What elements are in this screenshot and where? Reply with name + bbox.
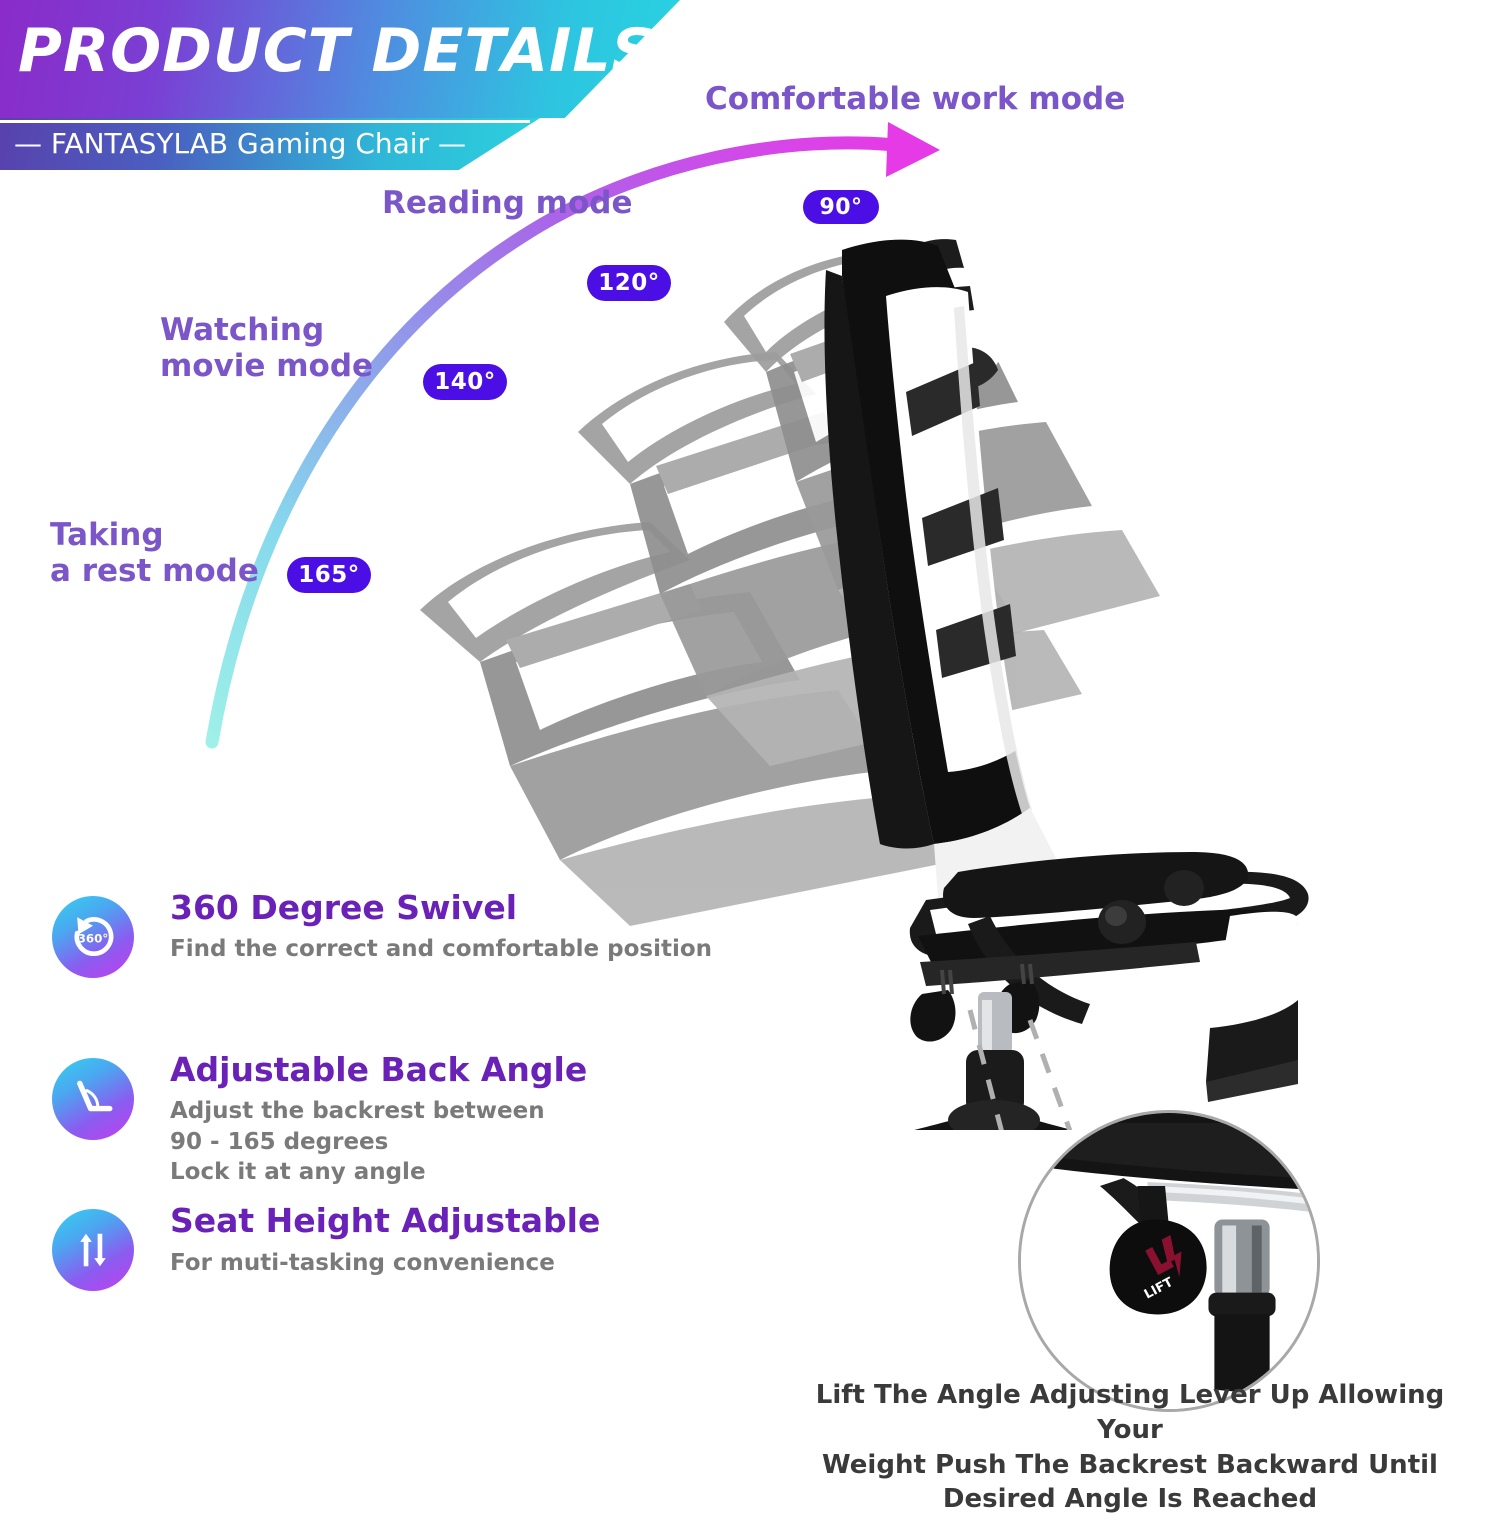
header-subtitle: — FANTASYLAB Gaming Chair — bbox=[14, 127, 466, 160]
height-adjust-icon bbox=[52, 1209, 134, 1291]
lever-detail-inset: LIFT bbox=[1018, 1110, 1320, 1412]
page-title: PRODUCT DETAILS bbox=[18, 16, 656, 86]
feature-title: Seat Height Adjustable bbox=[170, 1203, 792, 1239]
header-divider bbox=[0, 120, 530, 123]
recline-angle-icon bbox=[52, 1058, 134, 1140]
feature-list: 360° 360 Degree Swivel Find the correct … bbox=[52, 890, 792, 1339]
inset-caption: Lift The Angle Adjusting Lever Up Allowi… bbox=[800, 1378, 1460, 1517]
feature-title: Adjustable Back Angle bbox=[170, 1052, 792, 1088]
feature-item-swivel: 360° 360 Degree Swivel Find the correct … bbox=[52, 890, 792, 1000]
feature-description: Find the correct and comfortable positio… bbox=[170, 934, 792, 964]
feature-description: For muti-tasking convenience bbox=[170, 1248, 792, 1278]
feature-description: Adjust the backrest between 90 - 165 deg… bbox=[170, 1096, 792, 1187]
feature-item-back-angle: Adjustable Back Angle Adjust the backres… bbox=[52, 1052, 792, 1187]
mode-label-work: Comfortable work mode bbox=[705, 82, 1125, 118]
360-rotate-icon: 360° bbox=[52, 896, 134, 978]
feature-title: 360 Degree Swivel bbox=[170, 890, 792, 926]
infographic-canvas: PRODUCT DETAILS — FANTASYLAB Gaming Chai… bbox=[0, 0, 1500, 1500]
mode-label-rest: Taking a rest mode bbox=[50, 518, 259, 590]
feature-item-seat-height: Seat Height Adjustable For muti-tasking … bbox=[52, 1203, 792, 1313]
svg-text:360°: 360° bbox=[78, 931, 109, 945]
